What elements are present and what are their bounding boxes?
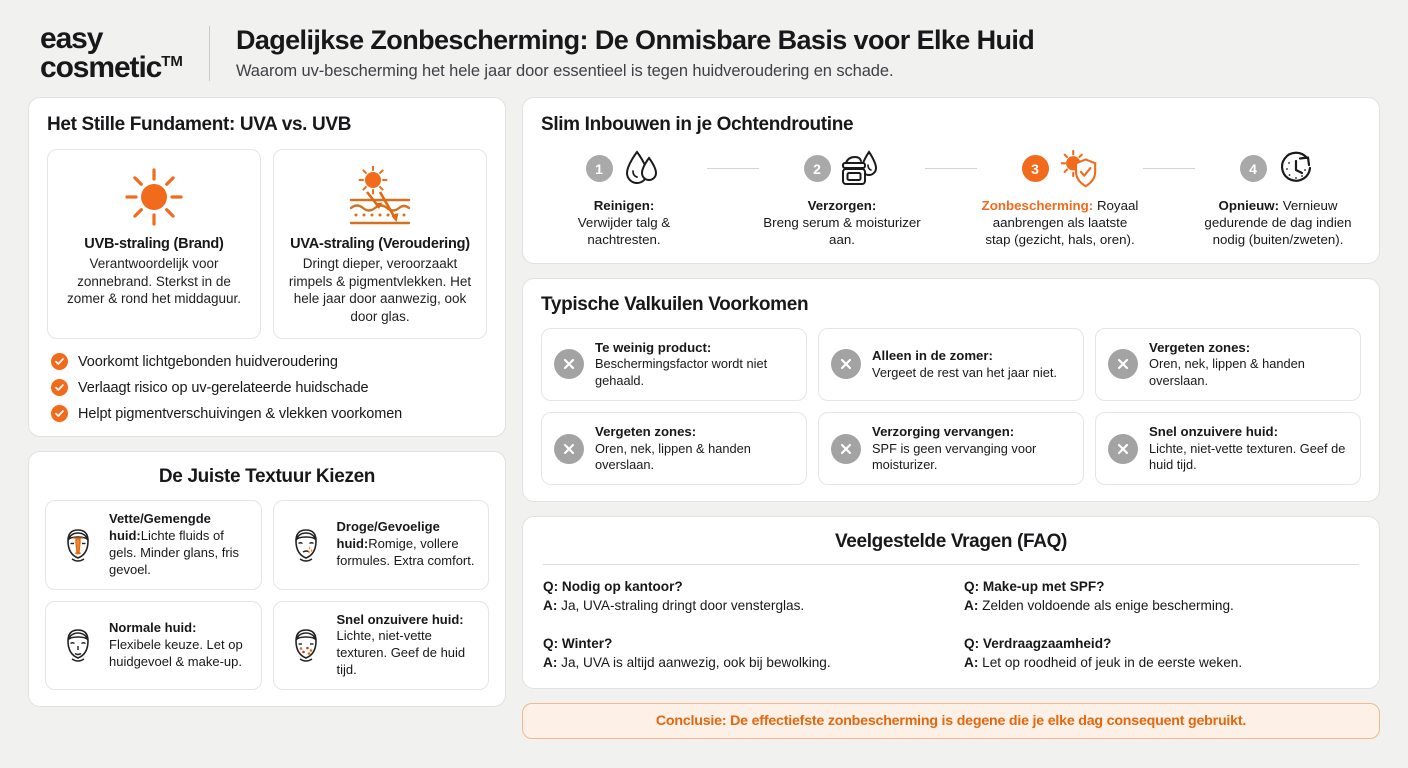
step-number-badge: 4 [1240,155,1267,182]
faq-answer: A: Ja, UVA is altijd aanwezig, ook bij b… [543,653,938,672]
step-connector [925,168,977,170]
faq-card-title: Veelgestelde Vragen (FAQ) [543,531,1359,553]
faq-question: Q: Make-up met SPF? [964,577,1359,596]
brand-logo: easy cosmeticTM [40,24,209,83]
step-connector [707,168,759,170]
pitfall-desc: Vergeet de rest van het jaar niet. [872,365,1057,380]
pitfall-title: Te weinig product: [595,340,794,357]
texture-title: Normale huid: [109,620,196,635]
face-blemish-icon [285,624,327,666]
faq-item[interactable]: Q: Nodig op kantoor? A: Ja, UVA-straling… [543,577,938,616]
page-subtitle: Waarom uv-bescherming het hele jaar door… [236,62,1034,81]
uv-benefits-list: Voorkomt lichtgebonden huidveroudering V… [47,353,487,422]
step-text: Verzorgen:Breng serum & moisturizer aan. [759,197,925,249]
faq-question: Q: Winter? [543,634,938,653]
faq-answer-label: A: [543,598,557,613]
faq-answer-text: Ja, UVA is altijd aanwezig, ook bij bewo… [561,655,831,670]
list-item[interactable]: Alleen in de zomer:Vergeet de rest van h… [818,328,1084,401]
step-number-badge: 1 [586,155,613,182]
benefit-label: Helpt pigmentverschuivingen & vlekken vo… [78,406,402,422]
pitfall-text: Vergeten zones:Oren, nek, lippen & hande… [595,424,794,473]
pitfall-text: Te weinig product:Beschermingsfactor wor… [595,340,794,389]
sun-skin-penetration-icon [284,164,476,230]
faq-item[interactable]: Q: Make-up met SPF? A: Zelden voldoende … [964,577,1359,616]
texture-text: Vette/Gemengde huid:Lichte fluids of gel… [109,511,250,579]
list-item[interactable]: Te weinig product:Beschermingsfactor wor… [541,328,807,401]
list-item[interactable]: Droge/Gevoelige huid:Romige, vollere for… [273,500,490,590]
list-item: Helpt pigmentverschuivingen & vlekken vo… [51,405,487,422]
step-text: Reinigen:Verwijder talg & nachtresten. [541,197,707,249]
routine-step-2[interactable]: 2 [759,146,925,249]
list-item[interactable]: Vergeten zones:Oren, nek, lippen & hande… [541,412,807,485]
face-dry-icon [285,524,327,566]
page-header: easy cosmeticTM Dagelijkse Zonbeschermin… [28,20,1380,97]
faq-card: Veelgestelde Vragen (FAQ) Q: Nodig op ka… [522,516,1380,689]
texture-desc: Flexibele keuze. Let op huidgevoel & mak… [109,637,243,669]
check-circle-icon [51,353,68,370]
routine-step-3[interactable]: 3 [977,146,1143,249]
pitfall-text: Alleen in de zomer:Vergeet de rest van h… [872,348,1057,381]
pitfalls-card-title: Typische Valkuilen Voorkomen [541,294,1361,316]
uv-fundamentals-card: Het Stille Fundament: UVA vs. UVB [28,97,506,437]
faq-answer-label: A: [964,655,978,670]
pitfall-title: Vergeten zones: [595,424,794,441]
faq-answer-text: Zelden voldoende als enige bescherming. [982,598,1234,613]
uva-name: UVA-straling (Veroudering) [284,236,476,252]
x-circle-icon [1108,349,1138,379]
faq-answer-text: Ja, UVA-straling dringt door vensterglas… [561,598,804,613]
texture-text: Normale huid: Flexibele keuze. Let op hu… [109,620,250,671]
content-area: Het Stille Fundament: UVA vs. UVB [28,97,1380,756]
uvb-box: UVB-straling (Brand) Verantwoordelijk vo… [47,149,261,339]
pitfall-desc: SPF is geen vervanging voor moisturizer. [872,441,1036,472]
pitfall-text: Vergeten zones:Oren, nek, lippen & hande… [1149,340,1348,389]
pitfall-title: Alleen in de zomer: [872,348,1057,365]
list-item[interactable]: Snel onzuivere huid: Lichte, niet-vette … [273,601,490,691]
faq-answer: A: Ja, UVA-straling dringt door vensterg… [543,596,938,615]
step-text: Zonbescherming: Royaal aanbrengen als la… [977,197,1143,249]
step-desc: Breng serum & moisturizer aan. [763,215,920,247]
faq-question: Q: Nodig op kantoor? [543,577,938,596]
x-circle-icon [554,349,584,379]
cream-jar-drop-icon [839,148,881,190]
water-drop-icon [621,148,663,190]
step-label: Opnieuw: [1219,198,1280,213]
faq-item[interactable]: Q: Verdraagzaamheid? A: Let op roodheid … [964,634,1359,673]
faq-question: Q: Verdraagzaamheid? [964,634,1359,653]
brand-line-1: easy [40,24,183,53]
step-desc: Verwijder talg & nachtresten. [578,215,670,247]
morning-routine-card: Slim Inbouwen in je Ochtendroutine 1 [522,97,1380,264]
faq-answer-label: A: [543,655,557,670]
check-circle-icon [51,379,68,396]
step-head: 4 [1240,146,1317,192]
uva-desc: Dringt dieper, veroorzaakt rimpels & pig… [284,255,476,326]
header-text-block: Dagelijkse Zonbescherming: De Onmisbare … [210,25,1034,81]
pitfalls-grid: Te weinig product:Beschermingsfactor wor… [541,328,1361,486]
faq-answer: A: Let op roodheid of jeuk in de eerste … [964,653,1359,672]
texture-title: Snel onzuivere huid: [337,612,464,627]
faq-item[interactable]: Q: Winter? A: Ja, UVA is altijd aanwezig… [543,634,938,673]
benefit-label: Voorkomt lichtgebonden huidveroudering [78,354,338,370]
uv-card-title: Het Stille Fundament: UVA vs. UVB [47,114,487,136]
routine-card-title: Slim Inbouwen in je Ochtendroutine [541,114,1361,136]
list-item[interactable]: Normale huid: Flexibele keuze. Let op hu… [45,601,262,691]
list-item[interactable]: Verzorging vervangen:SPF is geen vervang… [818,412,1084,485]
conclusion-banner: Conclusie: De effectiefste zonbeschermin… [522,703,1380,739]
texture-desc: Lichte, niet-vette texturen. Geef de hui… [337,628,466,677]
list-item[interactable]: Vergeten zones:Oren, nek, lippen & hande… [1095,328,1361,401]
check-circle-icon [51,405,68,422]
routine-steps: 1 Reinigen:Verwijder talg & nachtresten. [541,146,1361,249]
texture-text: Snel onzuivere huid: Lichte, niet-vette … [337,612,478,680]
list-item[interactable]: Vette/Gemengde huid:Lichte fluids of gel… [45,500,262,590]
texture-card-title: De Juiste Textuur Kiezen [45,466,489,488]
infographic-page: easy cosmeticTM Dagelijkse Zonbeschermin… [0,0,1408,768]
face-tzone-icon [57,524,99,566]
step-head: 2 [804,146,881,192]
pitfall-title: Verzorging vervangen: [872,424,1071,441]
texture-text: Droge/Gevoelige huid:Romige, vollere for… [337,519,478,570]
uva-box: UVA-straling (Veroudering) Dringt dieper… [273,149,487,339]
routine-step-4[interactable]: 4 [1195,146,1361,249]
faq-answer: A: Zelden voldoende als enige beschermin… [964,596,1359,615]
sun-shield-check-icon [1057,148,1099,190]
face-normal-icon [57,624,99,666]
list-item: Verlaagt risico op uv-gerelateerde huids… [51,379,487,396]
list-item: Voorkomt lichtgebonden huidveroudering [51,353,487,370]
step-connector [1143,168,1195,170]
faq-divider [543,564,1359,565]
step-label: Verzorgen: [808,198,877,213]
faq-answer-label: A: [964,598,978,613]
uvb-name: UVB-straling (Brand) [58,236,250,252]
uvb-desc: Verantwoordelijk voor zonnebrand. Sterks… [58,255,250,308]
step-head: 1 [586,146,663,192]
left-column: Het Stille Fundament: UVA vs. UVB [28,97,506,756]
page-title: Dagelijkse Zonbescherming: De Onmisbare … [236,25,1034,57]
x-circle-icon [554,434,584,464]
step-label: Reinigen: [594,198,655,213]
step-label: Zonbescherming: [982,198,1094,213]
benefit-label: Verlaagt risico op uv-gerelateerde huids… [78,380,369,396]
pitfall-text: Verzorging vervangen:SPF is geen vervang… [872,424,1071,473]
x-circle-icon [831,434,861,464]
pitfalls-card: Typische Valkuilen Voorkomen Te weinig p… [522,278,1380,503]
pitfall-title: Snel onzuivere huid: [1149,424,1348,441]
clock-refresh-icon [1275,148,1317,190]
step-head: 3 [1022,146,1099,192]
step-number-badge: 2 [804,155,831,182]
sun-icon [58,164,250,230]
texture-card: De Juiste Textuur Kiezen [28,451,506,707]
pitfall-desc: Lichte, niet-vette texturen. Geef de hui… [1149,441,1345,472]
pitfall-desc: Beschermingsfactor wordt niet gehaald. [595,356,767,387]
list-item[interactable]: Snel onzuivere huid:Lichte, niet-vette t… [1095,412,1361,485]
trademark-symbol: TM [161,53,183,70]
right-column: Slim Inbouwen in je Ochtendroutine 1 [522,97,1380,756]
step-text: Opnieuw: Vernieuw gedurende de dag indie… [1195,197,1361,249]
x-circle-icon [1108,434,1138,464]
pitfall-desc: Oren, nek, lippen & handen overslaan. [595,441,751,472]
faq-grid: Q: Nodig op kantoor? A: Ja, UVA-straling… [543,577,1359,672]
pitfall-title: Vergeten zones: [1149,340,1348,357]
x-circle-icon [831,349,861,379]
faq-answer-text: Let op roodheid of jeuk in de eerste wek… [982,655,1242,670]
pitfall-text: Snel onzuivere huid:Lichte, niet-vette t… [1149,424,1348,473]
uv-box-grid: UVB-straling (Brand) Verantwoordelijk vo… [47,149,487,339]
routine-step-1[interactable]: 1 Reinigen:Verwijder talg & nachtresten. [541,146,707,249]
brand-line-2: cosmeticTM [40,53,183,82]
texture-grid: Vette/Gemengde huid:Lichte fluids of gel… [45,500,489,690]
step-number-badge: 3 [1022,155,1049,182]
pitfall-desc: Oren, nek, lippen & handen overslaan. [1149,356,1305,387]
